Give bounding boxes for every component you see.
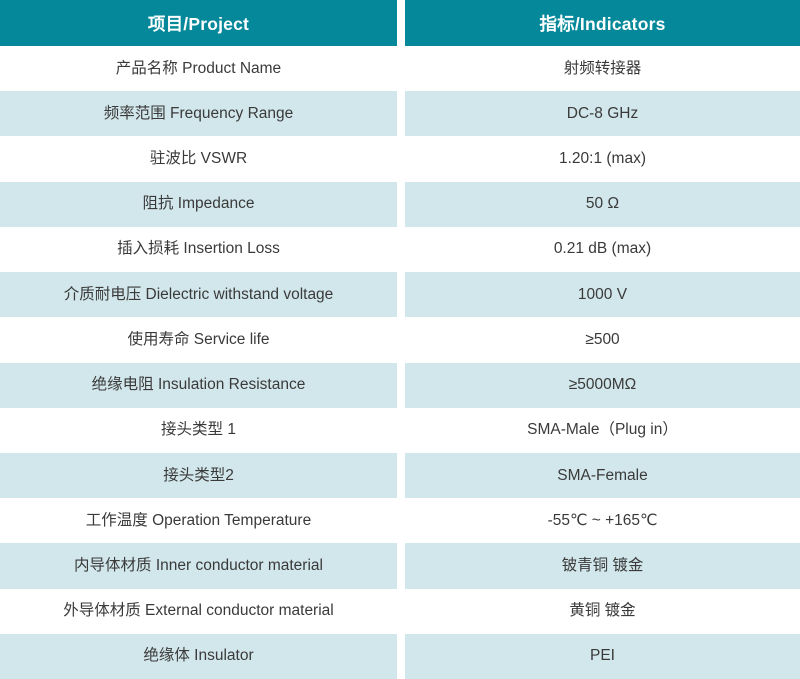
table-row: 产品名称 Product Name 射频转接器 [0,46,800,91]
cell-indicator: 0.21 dB (max) [405,227,800,272]
column-divider [397,589,405,634]
column-divider [397,498,405,543]
cell-project: 绝缘电阻 Insulation Resistance [0,363,397,408]
table-row: 使用寿命 Service life ≥500 [0,317,800,362]
column-divider [397,634,405,679]
cell-project: 介质耐电压 Dielectric withstand voltage [0,272,397,317]
table-row: 接头类型 1 SMA-Male（Plug in） [0,408,800,453]
cell-indicator: SMA-Male（Plug in） [405,408,800,453]
table-row: 外导体材质 External conductor material 黄铜 镀金 [0,589,800,634]
column-divider [397,46,405,91]
table-row: 工作温度 Operation Temperature -55℃ ~ +165℃ [0,498,800,543]
cell-indicator: SMA-Female [405,453,800,498]
column-divider [397,317,405,362]
column-header-indicator: 指标/Indicators [405,0,800,46]
cell-indicator: PEI [405,634,800,679]
cell-indicator: 铍青铜 镀金 [405,543,800,588]
table-header-row: 项目/Project 指标/Indicators [0,0,800,46]
table-row: 阻抗 Impedance 50 Ω [0,182,800,227]
cell-project: 接头类型2 [0,453,397,498]
cell-project: 工作温度 Operation Temperature [0,498,397,543]
column-divider [397,363,405,408]
table-row: 驻波比 VSWR 1.20:1 (max) [0,136,800,181]
table-row: 接头类型2 SMA-Female [0,453,800,498]
column-divider [397,453,405,498]
cell-indicator: 1.20:1 (max) [405,136,800,181]
cell-indicator: 50 Ω [405,182,800,227]
table-row: 绝缘体 Insulator PEI [0,634,800,679]
header-column-divider [397,0,405,46]
column-header-project: 项目/Project [0,0,397,46]
table-row: 绝缘电阻 Insulation Resistance ≥5000MΩ [0,363,800,408]
cell-project: 插入损耗 Insertion Loss [0,227,397,272]
cell-indicator: 射频转接器 [405,46,800,91]
cell-project: 驻波比 VSWR [0,136,397,181]
table-row: 介质耐电压 Dielectric withstand voltage 1000 … [0,272,800,317]
column-divider [397,91,405,136]
cell-indicator: 黄铜 镀金 [405,589,800,634]
table-row: 插入损耗 Insertion Loss 0.21 dB (max) [0,227,800,272]
column-divider [397,182,405,227]
cell-project: 使用寿命 Service life [0,317,397,362]
cell-project: 阻抗 Impedance [0,182,397,227]
cell-project: 产品名称 Product Name [0,46,397,91]
cell-indicator: ≥500 [405,317,800,362]
table-row: 内导体材质 Inner conductor material 铍青铜 镀金 [0,543,800,588]
cell-indicator: DC-8 GHz [405,91,800,136]
cell-indicator: -55℃ ~ +165℃ [405,498,800,543]
cell-project: 内导体材质 Inner conductor material [0,543,397,588]
table-body: 产品名称 Product Name 射频转接器 频率范围 Frequency R… [0,46,800,679]
table-row: 频率范围 Frequency Range DC-8 GHz [0,91,800,136]
specification-table: 项目/Project 指标/Indicators 产品名称 Product Na… [0,0,800,679]
cell-project: 频率范围 Frequency Range [0,91,397,136]
cell-project: 接头类型 1 [0,408,397,453]
column-divider [397,272,405,317]
cell-indicator: ≥5000MΩ [405,363,800,408]
column-divider [397,408,405,453]
cell-indicator: 1000 V [405,272,800,317]
column-divider [397,136,405,181]
column-divider [397,227,405,272]
cell-project: 外导体材质 External conductor material [0,589,397,634]
column-divider [397,543,405,588]
cell-project: 绝缘体 Insulator [0,634,397,679]
